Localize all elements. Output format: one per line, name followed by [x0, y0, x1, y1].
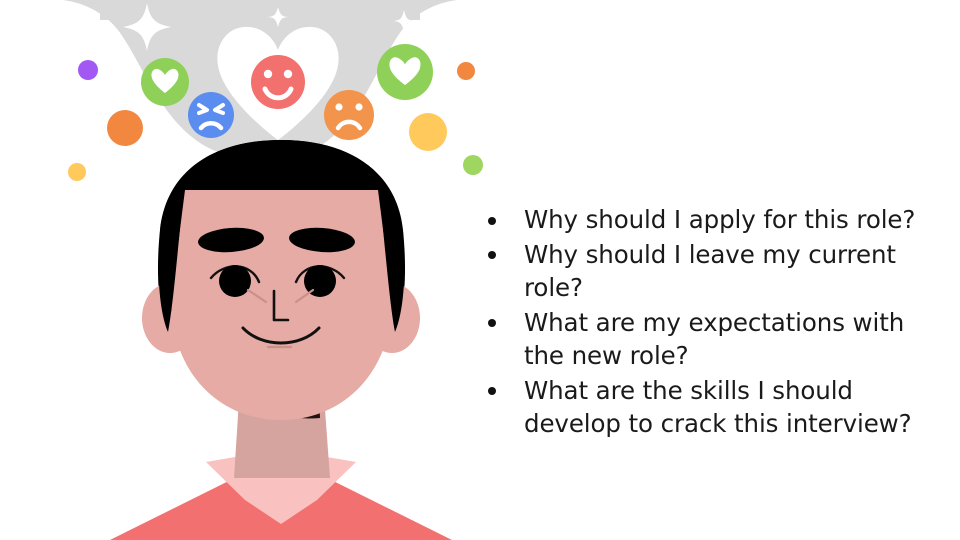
sad-left-eye [335, 103, 342, 110]
questions-bullet-list: Why should I apply for this role? Why sh… [476, 203, 946, 442]
sad-right-eye [355, 103, 362, 110]
yellow-dot-small-left [68, 163, 86, 181]
blue-angry-face-badge [188, 92, 234, 138]
question-text: What are my expectations with the new ro… [524, 308, 904, 371]
yellow-dot-large-right [409, 113, 447, 151]
list-item: What are my expectations with the new ro… [476, 306, 946, 373]
bullet-icon [488, 387, 496, 395]
bullet-icon [488, 251, 496, 259]
green-heart-badge [141, 58, 189, 106]
list-item: What are the skills I should develop to … [476, 374, 946, 441]
question-text: What are the skills I should develop to … [524, 376, 912, 439]
bullet-icon [488, 217, 496, 225]
green-heart-badge-right [377, 44, 433, 100]
orange-sad-face-badge [324, 90, 374, 140]
orange-dot-large-left [107, 110, 143, 146]
smiley-left-eye [264, 70, 272, 78]
face [159, 140, 405, 420]
green-dot-small-right [463, 155, 483, 175]
bullet-icon [488, 319, 496, 327]
slide-canvas: Why should I apply for this role? Why sh… [0, 0, 960, 540]
question-text: Why should I leave my current role? [524, 240, 896, 303]
eye-left-pupil [219, 265, 251, 297]
list-item: Why should I apply for this role? [476, 203, 946, 237]
question-text: Why should I apply for this role? [524, 205, 915, 234]
smiley-right-eye [284, 70, 292, 78]
list-item: Why should I leave my current role? [476, 238, 946, 305]
orange-dot-small-right [457, 62, 475, 80]
salmon-smiley-face [251, 55, 305, 109]
thinking-person-illustration [0, 0, 520, 540]
purple-dot [78, 60, 98, 80]
